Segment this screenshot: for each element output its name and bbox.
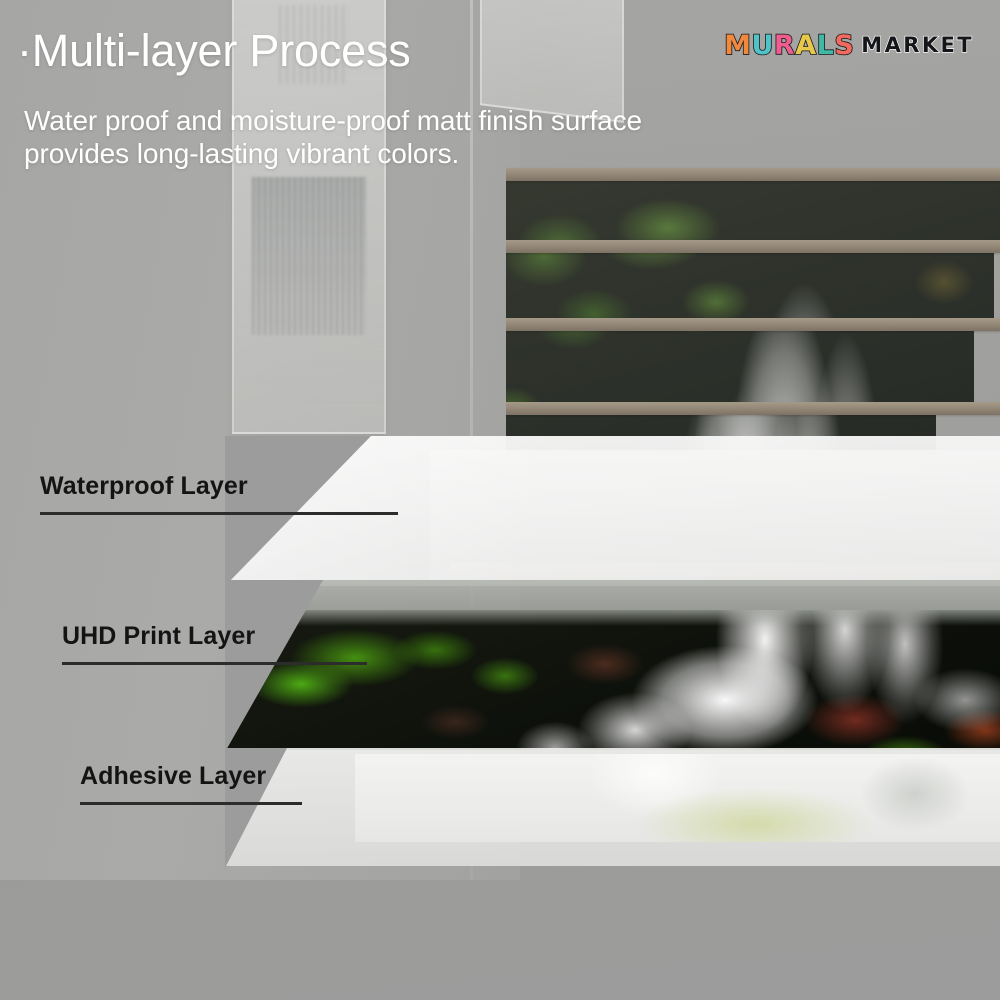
staircase-photo <box>506 150 1000 460</box>
stair-tread <box>506 240 1000 253</box>
logo-market-letter-m-0: M <box>861 35 884 56</box>
label-uhd-print: UHD Print Layer <box>62 624 367 665</box>
label-waterproof-rule <box>40 512 398 515</box>
label-uhd-print-text: UHD Print Layer <box>62 624 367 649</box>
logo-letter-m-0: M <box>724 32 751 59</box>
label-adhesive-text: Adhesive Layer <box>80 764 302 789</box>
logo-market-letter-r-2: R <box>903 35 922 56</box>
label-waterproof-text: Waterproof Layer <box>40 474 398 499</box>
logo-letter-s-5: S <box>834 32 854 59</box>
logo-market-wordmark: MARKET <box>861 35 974 56</box>
infographic-canvas: Waterproof Layer UHD Print Layer Adhesiv… <box>0 0 1000 1000</box>
artwork-texture <box>252 177 366 335</box>
label-adhesive-rule <box>80 802 302 805</box>
adhesive-translucent-window <box>355 754 1000 842</box>
label-adhesive: Adhesive Layer <box>80 764 302 805</box>
logo-letter-a-3: A <box>795 32 816 59</box>
stair-tread <box>506 402 1000 415</box>
page-title: ·Multi-layer Process <box>17 25 411 77</box>
stair-riser <box>506 246 1000 318</box>
logo-letter-u-1: U <box>751 32 773 59</box>
stair-tread <box>506 318 1000 331</box>
logo-market-letter-e-4: E <box>941 35 958 56</box>
logo-market-letter-t-5: T <box>957 35 974 56</box>
adhesive-layer-plate <box>225 748 1000 866</box>
subtitle-line-1: Water proof and moisture-proof matt fini… <box>24 105 642 138</box>
logo-market-letter-a-1: A <box>885 35 904 56</box>
label-uhd-print-rule <box>62 662 367 665</box>
label-waterproof: Waterproof Layer <box>40 474 398 515</box>
logo-letter-r-2: R <box>774 32 795 59</box>
brand-logo[interactable]: MURALS MARKET <box>724 32 974 59</box>
uhd-layer-edge <box>225 580 1000 612</box>
logo-market-letter-k-3: K <box>922 35 941 56</box>
page-subtitle: Water proof and moisture-proof matt fini… <box>24 105 642 171</box>
logo-letter-l-4: L <box>817 32 835 59</box>
subtitle-line-2: provides long-lasting vibrant colors. <box>24 138 642 171</box>
stair-riser <box>506 174 1000 240</box>
stair-riser <box>506 324 1000 402</box>
logo-murals-wordmark: MURALS <box>724 32 854 59</box>
